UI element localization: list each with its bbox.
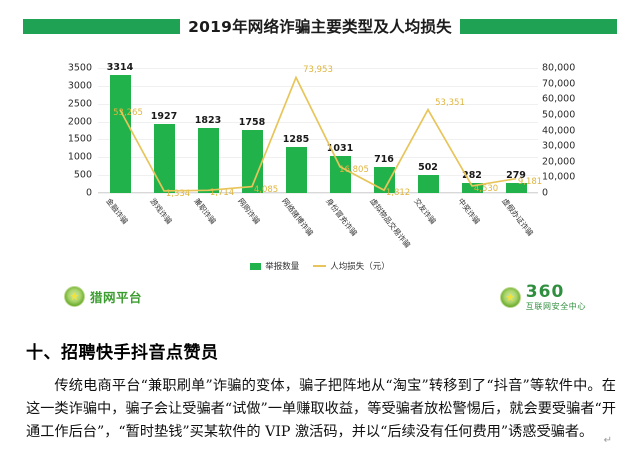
x-axis-category-label: 网购诈骗 [235,196,262,226]
y-axis-right-tick: 70,000 [542,78,575,89]
y-axis-right-tick: 0 [542,188,548,199]
chart-legend: 举报数量 人均损失（元） [46,260,594,272]
x-axis-category-label: 虚拟物品交易诈骗 [367,196,413,250]
article-heading: 十、招聘快手抖音点赞员 [26,338,616,363]
y-axis-right-tick: 40,000 [542,125,575,136]
y-axis-right-tick: 60,000 [542,94,575,105]
x-axis-labels: 金融诈骗游戏诈骗兼职诈骗网购诈骗网络赌博诈骗身份冒充诈骗虚拟物品交易诈骗交友诈骗… [98,196,538,256]
qihoo360-logo: 360 互联网安全中心 [500,284,586,311]
x-axis-category-label: 金融诈骗 [103,196,130,226]
y-axis-left-tick: 0 [86,188,92,199]
chart-gridline [98,193,538,194]
page-title: 2019年网络诈骗主要类型及人均损失 [180,15,460,37]
legend-bar-label: 举报数量 [265,260,299,272]
y-axis-right-tick: 20,000 [542,156,575,167]
legend-item-bar: 举报数量 [250,260,299,272]
chart-card: 0500100015002000250030003500 010,00020,0… [46,54,594,322]
article-section: 十、招聘快手抖音点赞员 传统电商平台“兼职刷单”诈骗的变体，骗子把阵地从“淘宝”… [26,338,616,444]
x-axis-category-label: 虚假办证诈骗 [499,196,535,238]
x-axis-category-label: 身份冒充诈骗 [323,196,359,238]
y-axis-right-tick: 80,000 [542,63,575,74]
x-axis-category-label: 交友诈骗 [411,196,438,226]
line-series [98,68,538,193]
y-axis-left-tick: 2500 [68,98,92,109]
liewang-logo: 猎网平台 [64,286,142,307]
legend-line-swatch-icon [313,265,326,267]
y-axis-left-tick: 2000 [68,116,92,127]
article-body: 传统电商平台“兼职刷单”诈骗的变体，骗子把阵地从“淘宝”转移到了“抖音”等软件中… [26,375,616,444]
y-axis-left-tick: 1500 [68,134,92,145]
y-axis-left-tick: 1000 [68,152,92,163]
legend-item-line: 人均损失（元） [313,260,390,272]
page-root: 2019年网络诈骗主要类型及人均损失 050010001500200025003… [0,0,640,471]
y-axis-left-tick: 500 [74,170,92,181]
qihoo360-logo-text: 360 互联网安全中心 [526,284,586,311]
title-band-left-bar [23,19,180,34]
chart-plot-area: 33141927182317581285103171650228227953,2… [98,68,538,193]
chart-line-path [120,77,516,190]
title-banner: 2019年网络诈骗主要类型及人均损失 [0,12,640,40]
paragraph-end-mark: ↵ [604,435,612,446]
title-band-right-bar [460,19,617,34]
qihoo360-brand: 360 [526,284,586,301]
footer-logos: 猎网平台 360 互联网安全中心 [46,284,594,318]
x-axis-category-label: 中奖诈骗 [455,196,482,226]
y-axis-left-tick: 3000 [68,80,92,91]
y-axis-left-tick: 3500 [68,63,92,74]
legend-line-label: 人均损失（元） [330,260,390,272]
x-axis-category-label: 网络赌博诈骗 [279,196,315,238]
qihoo360-subtitle: 互联网安全中心 [526,303,586,311]
y-axis-right-tick: 30,000 [542,141,575,152]
x-axis-category-label: 游戏诈骗 [147,196,174,226]
shield-star-icon [64,286,85,307]
legend-bar-swatch-icon [250,263,261,270]
shield-star-icon-360 [500,287,521,308]
x-axis-category-label: 兼职诈骗 [191,196,218,226]
liewang-logo-text: 猎网平台 [90,287,142,306]
y-axis-right-tick: 50,000 [542,109,575,120]
y-axis-right-tick: 10,000 [542,172,575,183]
